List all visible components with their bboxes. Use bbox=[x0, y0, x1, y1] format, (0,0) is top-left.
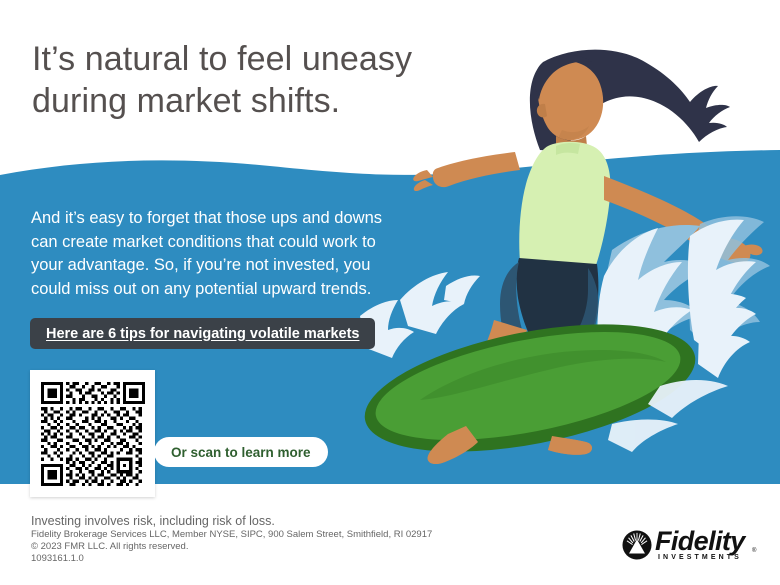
surfer-shorts bbox=[517, 258, 599, 366]
footer-disclosures: Investing involves risk, including risk … bbox=[31, 514, 511, 565]
surfer-back-foot bbox=[428, 426, 478, 464]
surfer-tank-top bbox=[519, 142, 610, 268]
fidelity-wordmark: Fidelity bbox=[655, 528, 745, 555]
risk-disclosure-lead: Investing involves risk, including risk … bbox=[31, 514, 511, 529]
surfer-front-leg bbox=[528, 336, 569, 440]
advertisement-banner: It’s natural to feel uneasy during marke… bbox=[0, 0, 780, 585]
copyright-line: © 2023 FMR LLC. All rights reserved. bbox=[31, 541, 511, 553]
water-foam bbox=[360, 220, 756, 404]
scan-callout-label: Or scan to learn more bbox=[171, 445, 311, 460]
surfboard-deck bbox=[367, 311, 689, 460]
surfer-hair bbox=[530, 50, 730, 152]
water-splash bbox=[599, 216, 771, 392]
surfer-front-foot bbox=[548, 436, 592, 455]
tracking-number: 1093161.1.0 bbox=[31, 553, 511, 565]
registered-trademark-mark: ® bbox=[752, 548, 756, 554]
surfer-head bbox=[538, 61, 604, 140]
qr-code-card[interactable] bbox=[30, 370, 155, 497]
qr-code-icon bbox=[41, 382, 145, 486]
fidelity-pyramid-icon bbox=[622, 530, 652, 560]
cta-button[interactable]: Here are 6 tips for navigating volatile … bbox=[30, 318, 375, 349]
surfer-right-hand bbox=[710, 237, 750, 263]
body-copy: And it’s easy to forget that those ups a… bbox=[31, 207, 403, 301]
cta-button-label: Here are 6 tips for navigating volatile … bbox=[46, 326, 359, 342]
legal-entity-line: Fidelity Brokerage Services LLC, Member … bbox=[31, 529, 511, 541]
page-title: It’s natural to feel uneasy during marke… bbox=[32, 38, 502, 122]
surfer-back-leg bbox=[428, 320, 527, 438]
fidelity-tagline: INVESTMENTS bbox=[658, 554, 742, 562]
fidelity-logo: Fidelity INVESTMENTS ® bbox=[622, 528, 757, 564]
surfer-right-arm bbox=[604, 176, 732, 262]
surfboard-outer bbox=[354, 301, 705, 475]
surfer-left-arm bbox=[433, 152, 520, 187]
surfboard-highlight bbox=[420, 350, 666, 400]
scan-callout-pill[interactable]: Or scan to learn more bbox=[154, 437, 328, 467]
